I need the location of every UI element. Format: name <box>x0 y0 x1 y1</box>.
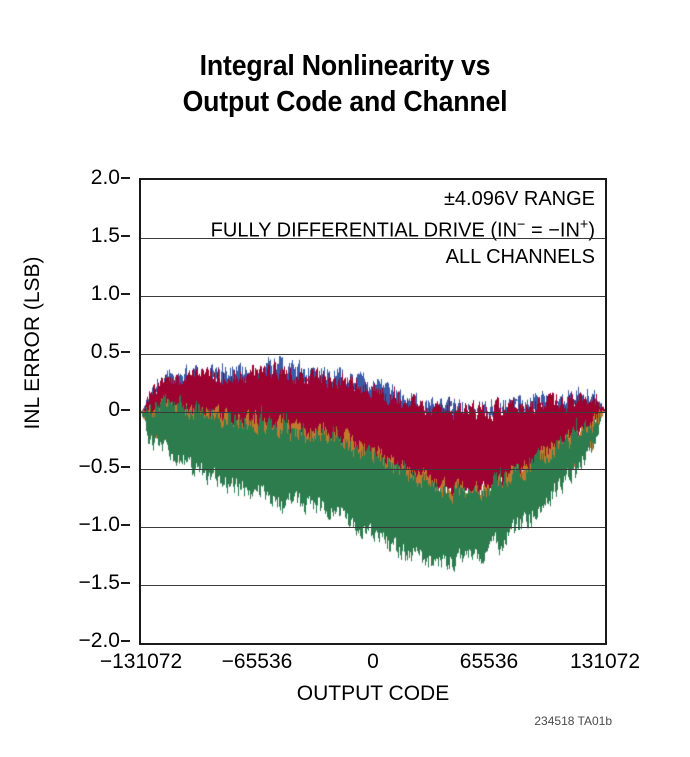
x-tick-label: −65536 <box>222 650 293 674</box>
y-tick-label: 1.0 <box>91 282 120 306</box>
gridline <box>141 585 605 586</box>
gridline <box>141 469 605 470</box>
y-tick-mark <box>121 640 130 642</box>
y-tick-label: 0 <box>108 398 120 422</box>
y-tick-label: 2.0 <box>91 166 120 190</box>
annotation-line-channels: ALL CHANNELS <box>211 244 595 270</box>
y-axis-title: INL ERROR (LSB) <box>21 213 45 473</box>
y-tick-label: −1.0 <box>79 513 120 537</box>
y-tick-label: 1.5 <box>91 224 120 248</box>
y-tick-mark <box>121 524 130 526</box>
x-tick-label: 131072 <box>570 650 640 674</box>
gridline <box>141 412 605 413</box>
gridline <box>141 354 605 355</box>
y-tick-mark <box>121 351 130 353</box>
y-tick-mark <box>121 466 130 468</box>
y-tick-label: −1.5 <box>79 571 120 595</box>
y-tick-label: 0.5 <box>91 340 120 364</box>
x-tick-label: 0 <box>367 650 379 674</box>
gridline <box>141 238 605 239</box>
x-axis-ticks: −131072−65536065536131072 <box>139 650 607 678</box>
y-tick-mark <box>121 582 130 584</box>
y-tick-label: −0.5 <box>79 455 120 479</box>
chart-title-line-2: Output Code and Channel <box>28 84 663 120</box>
chart-title: Integral Nonlinearity vs Output Code and… <box>28 48 663 120</box>
plot-annotation: ±4.096V RANGE FULLY DIFFERENTIAL DRIVE (… <box>211 186 595 270</box>
y-tick-mark <box>121 177 130 179</box>
annotation-line-range: ±4.096V RANGE <box>211 186 595 212</box>
chart-title-line-1: Integral Nonlinearity vs <box>28 48 663 84</box>
y-tick-mark <box>121 409 130 411</box>
x-tick-label: −131072 <box>100 650 182 674</box>
y-tick-mark <box>121 293 130 295</box>
x-tick-label: 65536 <box>460 650 518 674</box>
plot-area: ±4.096V RANGE FULLY DIFFERENTIAL DRIVE (… <box>139 178 607 645</box>
gridline <box>141 527 605 528</box>
y-tick-mark <box>121 235 130 237</box>
x-axis-title: OUTPUT CODE <box>139 682 607 706</box>
y-axis-ticks: 2.01.51.00.50−0.5−1.0−1.5−2.0 <box>60 178 130 645</box>
gridline <box>141 296 605 297</box>
figure-caption: 234518 TA01b <box>0 714 612 728</box>
